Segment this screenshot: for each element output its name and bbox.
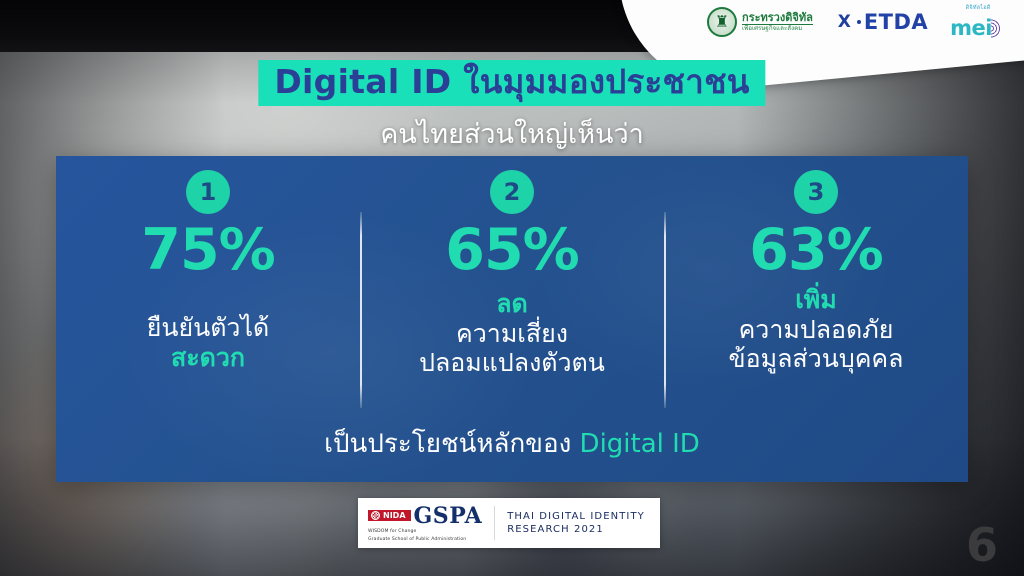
stat-column-3: 3 63% เพิ่ม ความปลอดภัย ข้อมูลส่วนบุคคล [664,156,968,428]
research-title: THAI DIGITAL IDENTITY RESEARCH 2021 [507,510,645,537]
nida-mark-label: NIDA [383,512,406,521]
meid-main: mei [950,18,1006,39]
stat-column-2: 2 65% ลด ความเสี่ยง ปลอมแปลงตัวตน [360,156,664,428]
stat-line-accent: สะดวก [147,343,270,373]
etda-logo: X ETDA [835,10,928,34]
stat-percent-3: 63% [749,222,882,279]
nida-logo: NIDA GSPA WISDOM for Change Graduate Sch… [368,504,482,542]
page-number: 6 [966,522,998,568]
mdes-wordmark: กระทรวงดิจิทัล เพื่อเศรษฐกิจและสังคม [742,12,813,33]
nida-subtitle: Graduate School of Public Administration [368,537,466,542]
credit-badge: NIDA GSPA WISDOM for Change Graduate Sch… [358,498,660,548]
page-title: Digital ID ในมุมมองประชาชน [274,63,749,101]
nida-seal-icon [371,511,380,520]
rank-badge-1: 1 [186,170,230,214]
mdes-line1: กระทรวงดิจิทัล [742,12,813,26]
nida-row: NIDA GSPA [368,504,482,528]
mdes-seal-glyph: ♜ [715,14,729,30]
etda-dot-icon [857,20,861,24]
stat-line: ปลอมแปลงตัวตน [419,348,605,378]
fingerprint-icon [991,19,1006,38]
stat-percent-2: 65% [445,222,578,279]
etda-wordmark: ETDA [864,10,928,34]
stat-lines-2: ลด ความเสี่ยง ปลอมแปลงตัวตน [419,289,605,378]
stat-column-1: 1 75% ยืนยันตัวได้ สะดวก [56,156,360,428]
mdes-line2: เพื่อเศรษฐกิจและสังคม [742,25,813,33]
stat-lines-3: เพิ่ม ความปลอดภัย ข้อมูลส่วนบุคคล [729,285,904,374]
rank-badge-2: 2 [490,170,534,214]
research-line-2: RESEARCH 2021 [507,523,645,537]
mdes-seal-icon: ♜ [707,7,737,37]
stats-columns: 1 75% ยืนยันตัวได้ สะดวก 2 65% ลด ความเส… [56,156,968,428]
meid-wordmark: mei [950,18,992,39]
nida-mark: NIDA [368,510,411,521]
credit-divider [494,506,495,540]
panel-footer-highlight: Digital ID [580,429,700,459]
stat-percent-1: 75% [141,222,274,279]
rank-badge-3: 3 [794,170,838,214]
slide-stage: ♜ กระทรวงดิจิทัล เพื่อเศรษฐกิจและสังคม X… [0,0,1024,576]
etda-x-icon: X [835,13,854,32]
panel-footer-prefix: เป็นประโยชน์หลักของ [324,429,579,459]
mdes-logo: ♜ กระทรวงดิจิทัล เพื่อเศรษฐกิจและสังคม [707,7,813,37]
page-subtitle: คนไทยส่วนใหญ่เห็นว่า [380,112,644,155]
nida-tagline: WISDOM for Change [368,529,416,534]
stat-line: ยืนยันตัวได้ [147,313,270,343]
stat-lines-1: ยืนยันตัวได้ สะดวก [147,313,270,372]
logo-row: ♜ กระทรวงดิจิทัล เพื่อเศรษฐกิจและสังคม X… [707,6,1006,39]
research-line-1: THAI DIGITAL IDENTITY [507,510,645,524]
meid-top-text: ดิจิทัลไอดี [966,6,991,12]
stats-panel: 1 75% ยืนยันตัวได้ สะดวก 2 65% ลด ความเส… [56,156,968,482]
title-highlight-band: Digital ID ในมุมมองประชาชน [258,60,765,106]
panel-footer-text: เป็นประโยชน์หลักของ Digital ID [56,423,968,464]
stat-line: ความปลอดภัย [729,315,904,345]
stat-line: ข้อมูลส่วนบุคคล [729,344,904,374]
stat-line-accent: ลด [419,289,605,319]
gspa-wordmark: GSPA [414,504,483,528]
meid-logo: ดิจิทัลไอดี mei [950,6,1006,39]
stat-line-accent: เพิ่ม [729,285,904,315]
stat-line: ความเสี่ยง [419,319,605,349]
